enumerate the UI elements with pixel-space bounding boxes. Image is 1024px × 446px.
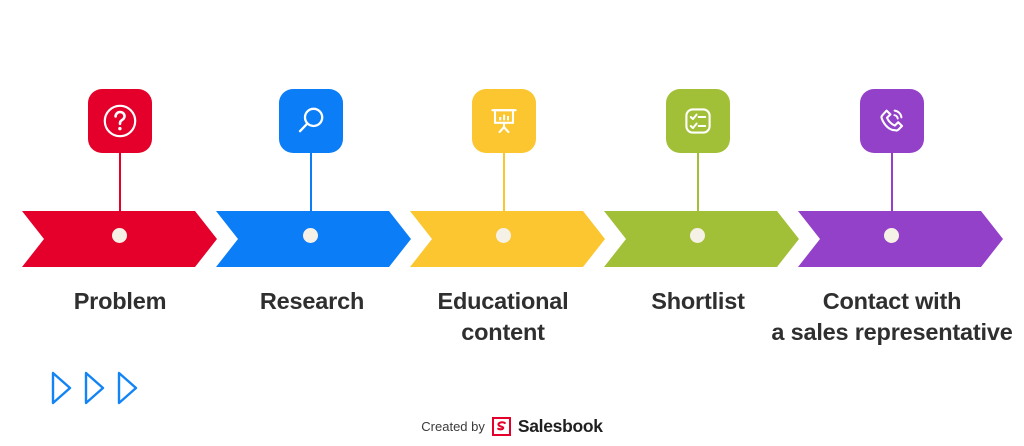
step-chevron-contact[interactable] [798, 211, 1003, 267]
presentation-chart-board-icon [484, 101, 524, 141]
step-icon-tile-research[interactable] [279, 89, 343, 153]
play-triangle-outline-icon [116, 371, 138, 410]
step-label-problem: Problem [20, 286, 220, 317]
step-label-research: Research [212, 286, 412, 317]
step-icon-tile-contact[interactable] [860, 89, 924, 153]
step-icon-tile-problem[interactable] [88, 89, 152, 153]
salesbook-s-mark-icon [492, 417, 511, 436]
step-label-contact: Contact with a sales representative [768, 286, 1016, 348]
checklist-icon [678, 101, 718, 141]
process-steps-row: Problem Research [0, 0, 1024, 446]
magnifier-search-icon [291, 101, 331, 141]
step-node-dot-educational-content [496, 228, 511, 243]
step-node-dot-shortlist [690, 228, 705, 243]
step-icon-tile-educational-content[interactable] [472, 89, 536, 153]
question-mark-circle-icon [100, 101, 140, 141]
created-by-credit: Created by Salesbook [0, 416, 1024, 437]
created-by-label: Created by [421, 419, 485, 434]
step-node-dot-research [303, 228, 318, 243]
salesbook-wordmark: Salesbook [518, 416, 603, 437]
step-node-dot-contact [884, 228, 899, 243]
step-icon-tile-shortlist[interactable] [666, 89, 730, 153]
infographic-canvas: Problem Research [0, 0, 1024, 446]
play-triangle-outline-icon [83, 371, 105, 410]
decorative-arrows-group [50, 371, 138, 410]
ringing-phone-icon [872, 101, 912, 141]
play-triangle-outline-icon [50, 371, 72, 410]
step-node-dot-problem [112, 228, 127, 243]
step-label-educational-content: Educational content [403, 286, 603, 348]
